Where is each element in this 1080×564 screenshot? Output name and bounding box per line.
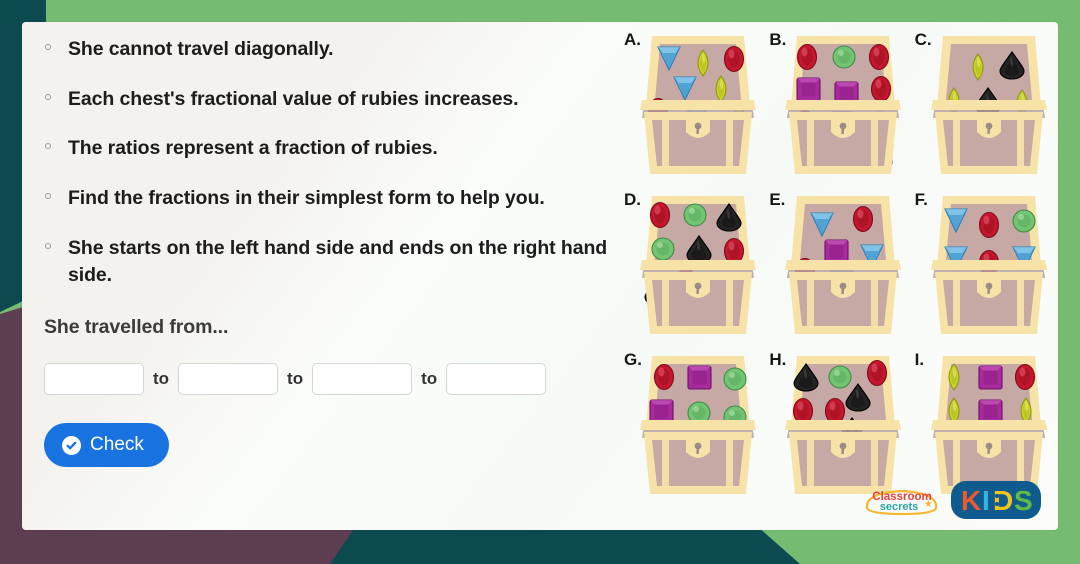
chest-strap-left bbox=[807, 120, 814, 166]
chest-letter-label: G. bbox=[624, 350, 642, 370]
list-item: The ratios represent a fraction of rubie… bbox=[44, 135, 620, 163]
gem-red-oval bbox=[655, 365, 674, 390]
chest-strap-left bbox=[953, 120, 960, 166]
chest-illustration bbox=[636, 192, 760, 342]
answer-input-1[interactable] bbox=[44, 363, 144, 395]
bullet-circle-icon bbox=[45, 44, 51, 50]
gem-red-oval bbox=[854, 207, 873, 232]
gem-green-round bbox=[1013, 210, 1035, 232]
answer-input-2[interactable] bbox=[178, 363, 278, 395]
chest-illustration bbox=[781, 192, 905, 342]
instructions-column: She cannot travel diagonally. Each chest… bbox=[22, 22, 622, 530]
chest-strap-left bbox=[807, 280, 814, 326]
kids-letter-k: K bbox=[961, 485, 981, 516]
gem-red-oval bbox=[979, 213, 998, 238]
chest-illustration bbox=[636, 352, 760, 502]
chest-cell[interactable]: E. bbox=[767, 188, 912, 348]
list-item: She cannot travel diagonally. bbox=[44, 36, 620, 64]
list-item: She starts on the left hand side and end… bbox=[44, 235, 620, 290]
chest-rim-edge bbox=[931, 260, 1047, 270]
instruction-text: She cannot travel diagonally. bbox=[68, 38, 333, 60]
chest-letter-label: H. bbox=[769, 350, 786, 370]
chest-strap-left bbox=[662, 120, 669, 166]
gem-red-oval bbox=[1015, 365, 1034, 390]
chest-cell[interactable]: C. bbox=[913, 28, 1058, 188]
chest-rim-edge bbox=[931, 100, 1047, 110]
gem-purple-square bbox=[650, 400, 673, 423]
chest-strap-right bbox=[1017, 280, 1024, 326]
kids-letter-d: D bbox=[993, 485, 1013, 516]
answer-row: to to to bbox=[44, 363, 622, 395]
cs-logo-line2: secrets bbox=[880, 501, 919, 513]
check-circle-icon bbox=[62, 436, 81, 455]
gem-red-oval bbox=[868, 361, 887, 386]
check-button-label: Check bbox=[90, 434, 144, 456]
chest-cell[interactable]: D. bbox=[622, 188, 767, 348]
gem-red-oval bbox=[798, 45, 817, 70]
gem-red-oval bbox=[651, 203, 670, 228]
gem-purple-square bbox=[979, 400, 1002, 423]
gem-green-round bbox=[833, 46, 855, 68]
list-item: Find the fractions in their simplest for… bbox=[44, 185, 620, 213]
kids-letter-i: I bbox=[982, 485, 990, 516]
instruction-text: She starts on the left hand side and end… bbox=[68, 237, 607, 287]
travelled-from-label: She travelled from... bbox=[44, 316, 622, 339]
chest-letter-label: C. bbox=[915, 30, 932, 50]
chest-strap-left bbox=[662, 280, 669, 326]
chest-strap-left bbox=[807, 440, 814, 486]
bullet-circle-icon bbox=[45, 193, 51, 199]
chest-letter-label: I. bbox=[915, 350, 924, 370]
gem-green-round bbox=[829, 366, 851, 388]
chest-letter-label: D. bbox=[624, 190, 641, 210]
chest-cell[interactable]: F. bbox=[913, 188, 1058, 348]
gem-green-round bbox=[652, 238, 674, 260]
gem-purple-square bbox=[825, 240, 848, 263]
bullet-circle-icon bbox=[45, 243, 51, 249]
kids-letter-s: S bbox=[1014, 485, 1033, 516]
gem-green-round bbox=[684, 204, 706, 226]
list-item: Each chest's fractional value of rubies … bbox=[44, 86, 620, 114]
activity-panel: She cannot travel diagonally. Each chest… bbox=[22, 22, 1058, 530]
chest-illustration bbox=[927, 32, 1051, 182]
chest-rim-edge bbox=[785, 420, 901, 430]
chest-illustration bbox=[927, 192, 1051, 342]
chest-strap-right bbox=[726, 440, 733, 486]
chest-cell[interactable]: B. bbox=[767, 28, 912, 188]
chest-rim-edge bbox=[640, 420, 756, 430]
gem-green-round bbox=[724, 368, 746, 390]
chest-strap-right bbox=[1017, 120, 1024, 166]
chest-strap-left bbox=[662, 440, 669, 486]
chest-letter-label: E. bbox=[769, 190, 785, 210]
answer-input-3[interactable] bbox=[312, 363, 412, 395]
chest-strap-right bbox=[726, 280, 733, 326]
check-button[interactable]: Check bbox=[44, 423, 169, 467]
chest-rim-edge bbox=[640, 100, 756, 110]
chest-letter-label: A. bbox=[624, 30, 641, 50]
chest-cell[interactable]: A. bbox=[622, 28, 767, 188]
bullet-circle-icon bbox=[45, 143, 51, 149]
to-separator-1: to bbox=[153, 369, 169, 389]
chest-strap-right bbox=[871, 280, 878, 326]
to-separator-2: to bbox=[287, 369, 303, 389]
chest-strap-left bbox=[953, 280, 960, 326]
chest-rim-edge bbox=[785, 260, 901, 270]
chest-letter-label: F. bbox=[915, 190, 928, 210]
instruction-list: She cannot travel diagonally. Each chest… bbox=[44, 36, 622, 290]
gem-red-oval bbox=[794, 399, 813, 424]
chest-illustration bbox=[781, 32, 905, 182]
instruction-text: Each chest's fractional value of rubies … bbox=[68, 88, 519, 110]
classroom-secrets-logo: Classroom secrets bbox=[864, 483, 940, 517]
answer-input-4[interactable] bbox=[446, 363, 546, 395]
bullet-circle-icon bbox=[45, 94, 51, 100]
gem-red-oval bbox=[872, 77, 891, 102]
chest-rim-edge bbox=[785, 100, 901, 110]
chest-cell[interactable]: G. bbox=[622, 348, 767, 508]
gem-purple-square bbox=[979, 366, 1002, 389]
chest-letter-label: B. bbox=[769, 30, 786, 50]
chest-illustration bbox=[636, 32, 760, 182]
instruction-text: Find the fractions in their simplest for… bbox=[68, 187, 545, 209]
chest-rim-edge bbox=[640, 260, 756, 270]
chest-grid: A. bbox=[622, 22, 1058, 530]
gem-red-oval bbox=[725, 239, 744, 264]
to-separator-3: to bbox=[421, 369, 437, 389]
gem-purple-square bbox=[797, 78, 820, 101]
gem-red-oval bbox=[725, 47, 744, 72]
chest-rim-edge bbox=[931, 420, 1047, 430]
chest-strap-right bbox=[871, 120, 878, 166]
chest-strap-right bbox=[726, 120, 733, 166]
logo-area: Classroom secrets K I D S bbox=[864, 478, 1042, 522]
gem-purple-square bbox=[688, 366, 711, 389]
gem-red-oval bbox=[826, 399, 845, 424]
kids-logo: K I D S bbox=[950, 478, 1042, 522]
instruction-text: The ratios represent a fraction of rubie… bbox=[68, 137, 438, 159]
gem-red-oval bbox=[870, 45, 889, 70]
